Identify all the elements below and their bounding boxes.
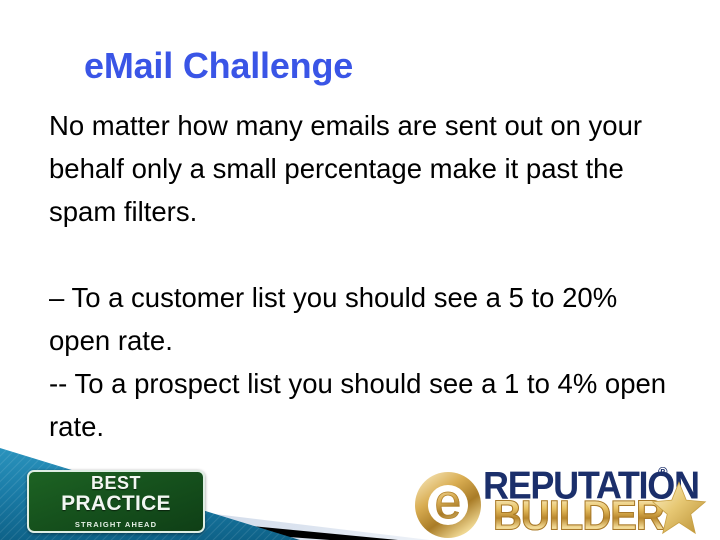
body-paragraph-1: No matter how many emails are sent out o…: [49, 104, 677, 233]
e-circle-icon: e: [415, 472, 481, 538]
best-practice-tagline: STRAIGHT AHEAD: [75, 520, 157, 529]
best-practice-line-2: PRACTICE: [61, 492, 171, 515]
paragraph-spacer: [49, 233, 677, 276]
registered-trademark-icon: ®: [658, 464, 668, 479]
best-practice-logo: BEST PRACTICE STRAIGHT AHEAD: [27, 470, 205, 533]
star-icon: [651, 480, 707, 536]
page-title: eMail Challenge: [84, 45, 353, 87]
reputation-builder-logo: e REPUTATION ® BUILDER: [415, 462, 715, 540]
e-glyph: e: [435, 479, 462, 527]
slide-canvas: eMail Challenge No matter how many email…: [0, 0, 720, 540]
body-paragraph-2: – To a customer list you should see a 5 …: [49, 276, 677, 362]
builder-wordmark: BUILDER: [493, 495, 664, 537]
slide-body: No matter how many emails are sent out o…: [49, 104, 677, 448]
best-practice-line-1: BEST: [91, 474, 141, 492]
